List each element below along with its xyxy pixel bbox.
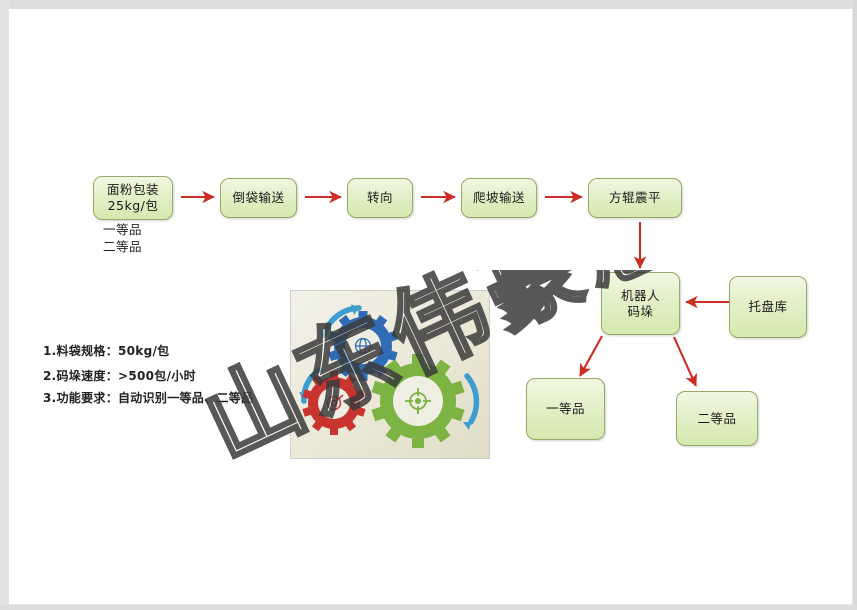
gear-blue: [328, 311, 397, 381]
arc-right: [467, 376, 476, 422]
spec-line-1: 1.料袋规格：50kg/包: [43, 345, 169, 358]
three-gears-graphic: [290, 290, 490, 459]
arrow-palletizing-to-grade-one: [580, 336, 602, 376]
arc-right-head: [463, 422, 471, 430]
slide-canvas: 面粉包装 25kg/包 倒袋输送 转向 爬坡输送 方辊震平 一等品 二等品 机器…: [0, 0, 857, 610]
spec-line-2: 2.码垛速度：>500包/小时: [43, 370, 196, 383]
arrow-palletizing-to-grade-two: [674, 337, 696, 386]
spec-line-3: 3.功能要求：自动识别一等品、二等品: [43, 392, 253, 405]
gear-green: [371, 354, 464, 448]
